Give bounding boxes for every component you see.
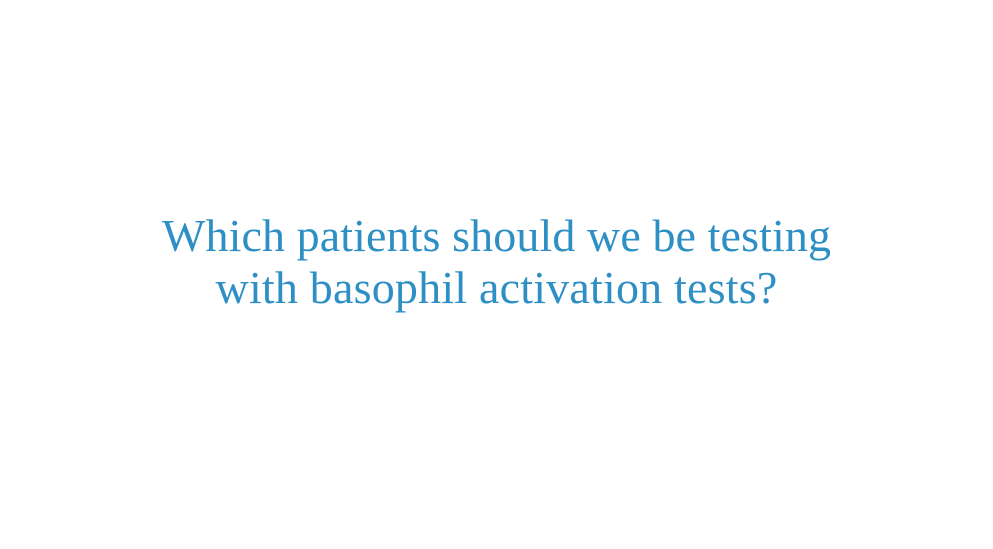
question-line-2: with basophil activation tests? bbox=[57, 262, 937, 314]
presentation-slide: Which patients should we be testing with… bbox=[0, 0, 993, 549]
slide-content-area: Which patients should we be testing with… bbox=[0, 0, 993, 549]
question-heading: Which patients should we be testing with… bbox=[57, 210, 937, 314]
question-line-1: Which patients should we be testing bbox=[57, 210, 937, 262]
